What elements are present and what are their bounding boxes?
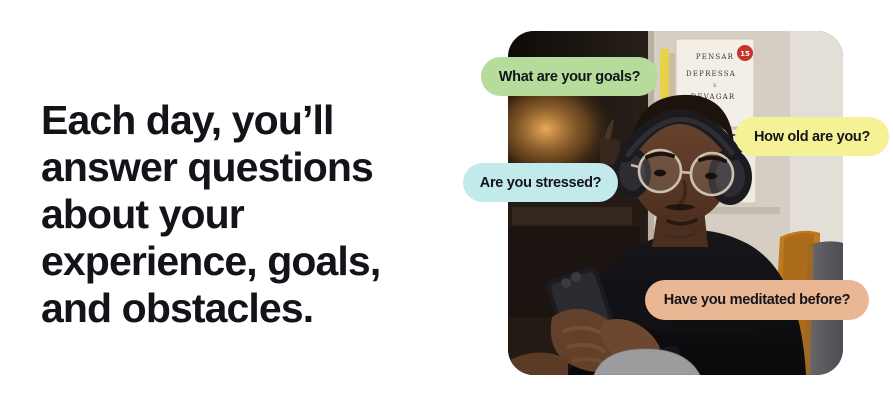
chat-bubble-meditate[interactable]: Have you meditated before? bbox=[645, 280, 869, 320]
svg-text:PENSAR: PENSAR bbox=[696, 53, 734, 61]
page-title: Each day, you’ll answer questions about … bbox=[41, 97, 441, 332]
chat-bubble-stress[interactable]: Are you stressed? bbox=[463, 163, 618, 202]
chat-bubble-goals[interactable]: What are your goals? bbox=[481, 57, 658, 96]
svg-text:15: 15 bbox=[740, 50, 750, 58]
chat-bubble-age[interactable]: How old are you? bbox=[735, 117, 889, 156]
svg-text:E: E bbox=[713, 83, 717, 89]
svg-text:DEPRESSA: DEPRESSA bbox=[686, 70, 736, 78]
promo-section: Each day, you’ll answer questions about … bbox=[0, 0, 893, 405]
